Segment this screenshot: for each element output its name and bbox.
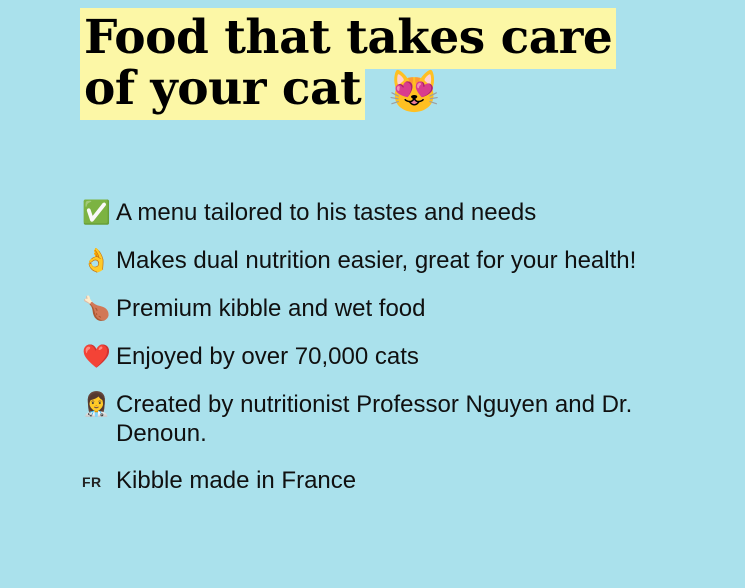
red-heart-icon: ❤️: [82, 342, 116, 372]
headline-line-1: Food that takes care: [80, 14, 700, 61]
headline-line-2-text: of your cat: [80, 59, 365, 120]
promo-page: Food that takes care of your cat 😻 ✅ A m…: [0, 0, 745, 588]
list-item: 👩‍⚕️ Created by nutritionist Professor N…: [82, 390, 682, 449]
poultry-leg-icon: 🍗: [82, 294, 116, 324]
list-item-label: Makes dual nutrition easier, great for y…: [116, 246, 682, 275]
list-item: 🍗 Premium kibble and wet food: [82, 294, 682, 324]
list-item-label: Created by nutritionist Professor Nguyen…: [116, 390, 682, 449]
check-mark-button-icon: ✅: [82, 198, 116, 228]
benefits-list: ✅ A menu tailored to his tastes and need…: [82, 198, 682, 513]
health-worker-icon: 👩‍⚕️: [82, 390, 116, 420]
list-item: FR Kibble made in France: [82, 466, 682, 495]
list-item-label: A menu tailored to his tastes and needs: [116, 198, 682, 227]
headline-line-2: of your cat 😻: [80, 65, 700, 113]
ok-hand-icon: 👌: [82, 246, 116, 276]
list-item: ✅ A menu tailored to his tastes and need…: [82, 198, 682, 228]
list-item-label: Enjoyed by over 70,000 cats: [116, 342, 682, 371]
list-item-label: Premium kibble and wet food: [116, 294, 682, 323]
list-item: 👌 Makes dual nutrition easier, great for…: [82, 246, 682, 276]
list-item: ❤️ Enjoyed by over 70,000 cats: [82, 342, 682, 372]
page-title: Food that takes care of your cat 😻: [80, 14, 700, 117]
list-item-label: Kibble made in France: [116, 466, 682, 495]
france-flag-icon: FR: [82, 466, 116, 491]
smiling-cat-with-heart-eyes-icon: 😻: [388, 68, 440, 115]
